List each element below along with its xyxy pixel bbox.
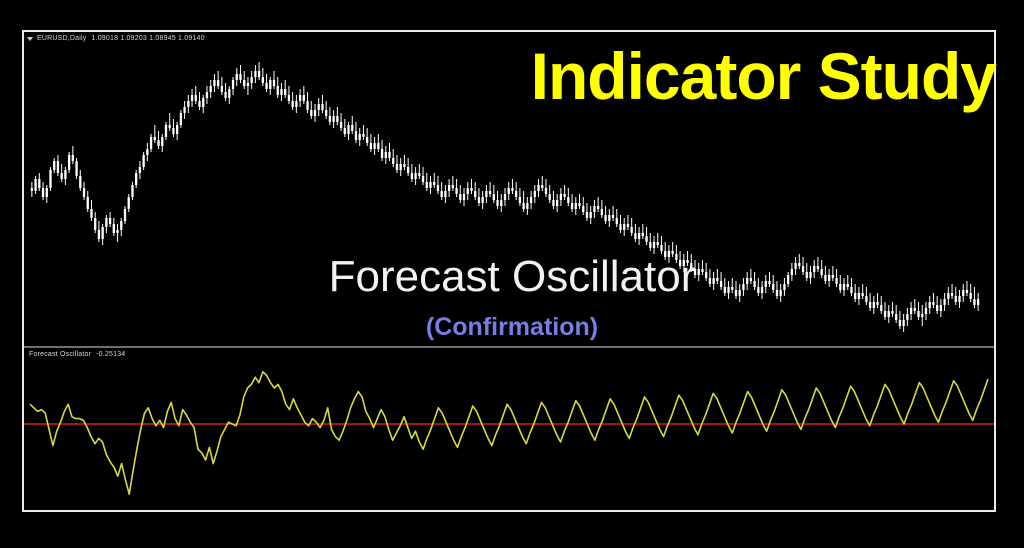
triangle-down-icon[interactable] xyxy=(27,37,33,41)
oscillator-pane-header: Forecast Oscillator -0.25134 xyxy=(29,350,125,359)
oscillator-pane[interactable]: Forecast Oscillator -0.25134 xyxy=(24,348,994,510)
indicator-current-value: -0.25134 xyxy=(96,350,125,359)
oscillator-line xyxy=(30,372,988,494)
price-pane-header: EURUSD,Daily 1.09018 1.09203 1.08945 1.0… xyxy=(28,34,205,43)
page-title: Indicator Study xyxy=(531,40,996,112)
screenshot-root: EURUSD,Daily 1.09018 1.09203 1.08945 1.0… xyxy=(0,0,1024,548)
forecast-oscillator-plot xyxy=(24,348,994,510)
indicator-title: Forecast Oscillator xyxy=(0,252,1024,302)
ohlc-quote-values: 1.09018 1.09203 1.08945 1.09140 xyxy=(91,35,204,42)
symbol-timeframe-label: EURUSD,Daily xyxy=(37,34,86,43)
pane-divider[interactable] xyxy=(24,346,994,348)
indicator-role-note: (Confirmation) xyxy=(0,312,1024,342)
indicator-name-label: Forecast Oscillator xyxy=(29,350,91,359)
